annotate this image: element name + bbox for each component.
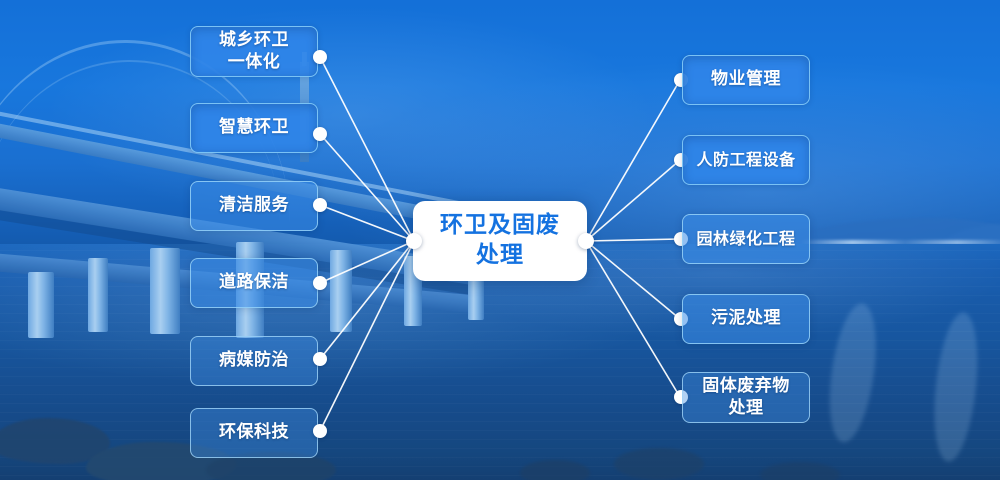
branch-label: 城乡环卫一体化 — [219, 30, 289, 73]
branch-node-left-1[interactable]: 城乡环卫一体化 — [190, 26, 318, 77]
bridge-column — [88, 258, 108, 332]
branch-label: 物业管理 — [711, 69, 781, 90]
branch-node-left-4[interactable]: 道路保洁 — [190, 258, 318, 308]
connector-dot-left-4 — [313, 276, 327, 290]
bridge-column — [330, 250, 352, 332]
branch-label: 清洁服务 — [219, 195, 289, 216]
connector-dot-left-3 — [313, 198, 327, 212]
center-node[interactable]: 环卫及固废 处理 — [413, 201, 587, 281]
branch-node-left-2[interactable]: 智慧环卫 — [190, 103, 318, 153]
mindmap-canvas: 城乡环卫一体化 智慧环卫 清洁服务 道路保洁 病媒防治 环保科技 环卫及固废 处… — [0, 0, 1000, 480]
branch-node-right-3[interactable]: 园林绿化工程 — [682, 214, 810, 264]
branch-label: 病媒防治 — [219, 350, 289, 371]
branch-node-right-2[interactable]: 人防工程设备 — [682, 135, 810, 185]
connector-dot-left-5 — [313, 352, 327, 366]
branch-node-left-3[interactable]: 清洁服务 — [190, 181, 318, 231]
branch-label: 园林绿化工程 — [696, 229, 795, 249]
branch-node-right-1[interactable]: 物业管理 — [682, 55, 810, 105]
bridge-column — [28, 272, 54, 338]
branch-label: 污泥处理 — [711, 308, 781, 329]
branch-label: 智慧环卫 — [219, 117, 289, 138]
branch-node-right-4[interactable]: 污泥处理 — [682, 294, 810, 344]
connector-dot-left-2 — [313, 127, 327, 141]
branch-node-right-5[interactable]: 固体废弃物 处理 — [682, 372, 810, 423]
branch-label: 人防工程设备 — [696, 150, 795, 170]
branch-label: 固体废弃物 处理 — [702, 376, 790, 419]
connector-dot-left-6 — [313, 424, 327, 438]
branch-label: 道路保洁 — [219, 272, 289, 293]
branch-node-left-6[interactable]: 环保科技 — [190, 408, 318, 458]
bridge-column — [150, 248, 180, 334]
branch-label: 环保科技 — [219, 422, 289, 443]
hub-dot-right — [578, 233, 594, 249]
foreground-rock — [614, 448, 704, 480]
foreground-rock — [520, 460, 590, 480]
connector-dot-left-1 — [313, 50, 327, 64]
center-node-label: 环卫及固废 处理 — [440, 211, 560, 271]
branch-node-left-5[interactable]: 病媒防治 — [190, 336, 318, 386]
hub-dot-left — [406, 233, 422, 249]
